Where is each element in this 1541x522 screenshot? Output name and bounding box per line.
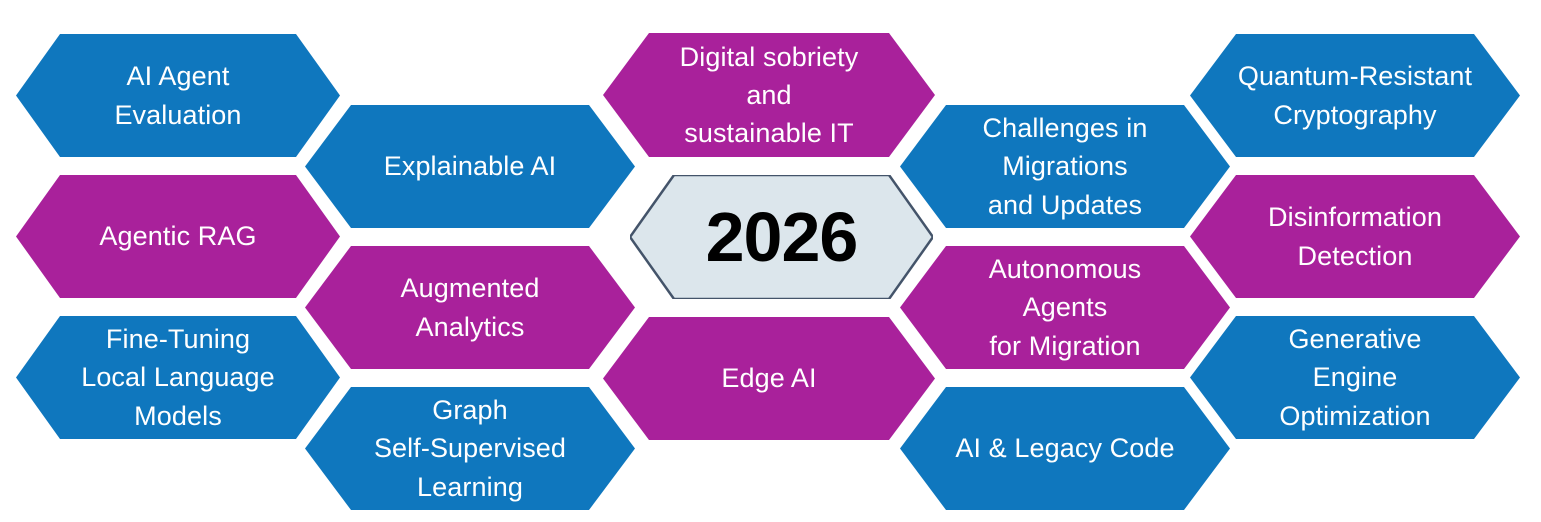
hex-shape-digital-sobriety-and-sustainable-it: [603, 33, 935, 157]
hex-challenges-in-migrations-and-updates: Challenges in Migrations and Updates: [900, 105, 1230, 228]
hex-shape-generative-engine-optimization: [1190, 316, 1520, 439]
hex-autonomous-agents-for-migration: Autonomous Agents for Migration: [900, 246, 1230, 369]
hex-year-2026: 2026: [630, 175, 933, 299]
hexagon-trend-diagram: AI Agent EvaluationAgentic RAGFine-Tunin…: [0, 0, 1541, 522]
hex-digital-sobriety-and-sustainable-it: Digital sobriety and sustainable IT: [603, 33, 935, 157]
hex-agentic-rag: Agentic RAG: [16, 175, 340, 298]
hex-generative-engine-optimization: Generative Engine Optimization: [1190, 316, 1520, 439]
hex-graph-self-supervised-learning: Graph Self-Supervised Learning: [305, 387, 635, 510]
hex-fine-tuning-local-language-models: Fine-Tuning Local Language Models: [16, 316, 340, 439]
hex-quantum-resistant-cryptography: Quantum-Resistant Cryptography: [1190, 34, 1520, 157]
hex-shape-agentic-rag: [16, 175, 340, 298]
hex-shape-ai-agent-evaluation: [16, 34, 340, 157]
hex-ai-agent-evaluation: AI Agent Evaluation: [16, 34, 340, 157]
hex-shape-graph-self-supervised-learning: [305, 387, 635, 510]
hex-shape-edge-ai: [603, 317, 935, 440]
hex-shape-challenges-in-migrations-and-updates: [900, 105, 1230, 228]
hex-shape-autonomous-agents-for-migration: [900, 246, 1230, 369]
hex-shape-ai-and-legacy-code: [900, 387, 1230, 510]
hex-shape-augmented-analytics: [305, 246, 635, 369]
hex-shape-quantum-resistant-cryptography: [1190, 34, 1520, 157]
hex-shape-explainable-ai: [305, 105, 635, 228]
hex-edge-ai: Edge AI: [603, 317, 935, 440]
hex-shape-disinformation-detection: [1190, 175, 1520, 298]
hex-explainable-ai: Explainable AI: [305, 105, 635, 228]
hex-augmented-analytics: Augmented Analytics: [305, 246, 635, 369]
hex-shape-year-2026: [630, 175, 933, 299]
hex-disinformation-detection: Disinformation Detection: [1190, 175, 1520, 298]
hex-shape-fine-tuning-local-language-models: [16, 316, 340, 439]
hex-ai-and-legacy-code: AI & Legacy Code: [900, 387, 1230, 510]
